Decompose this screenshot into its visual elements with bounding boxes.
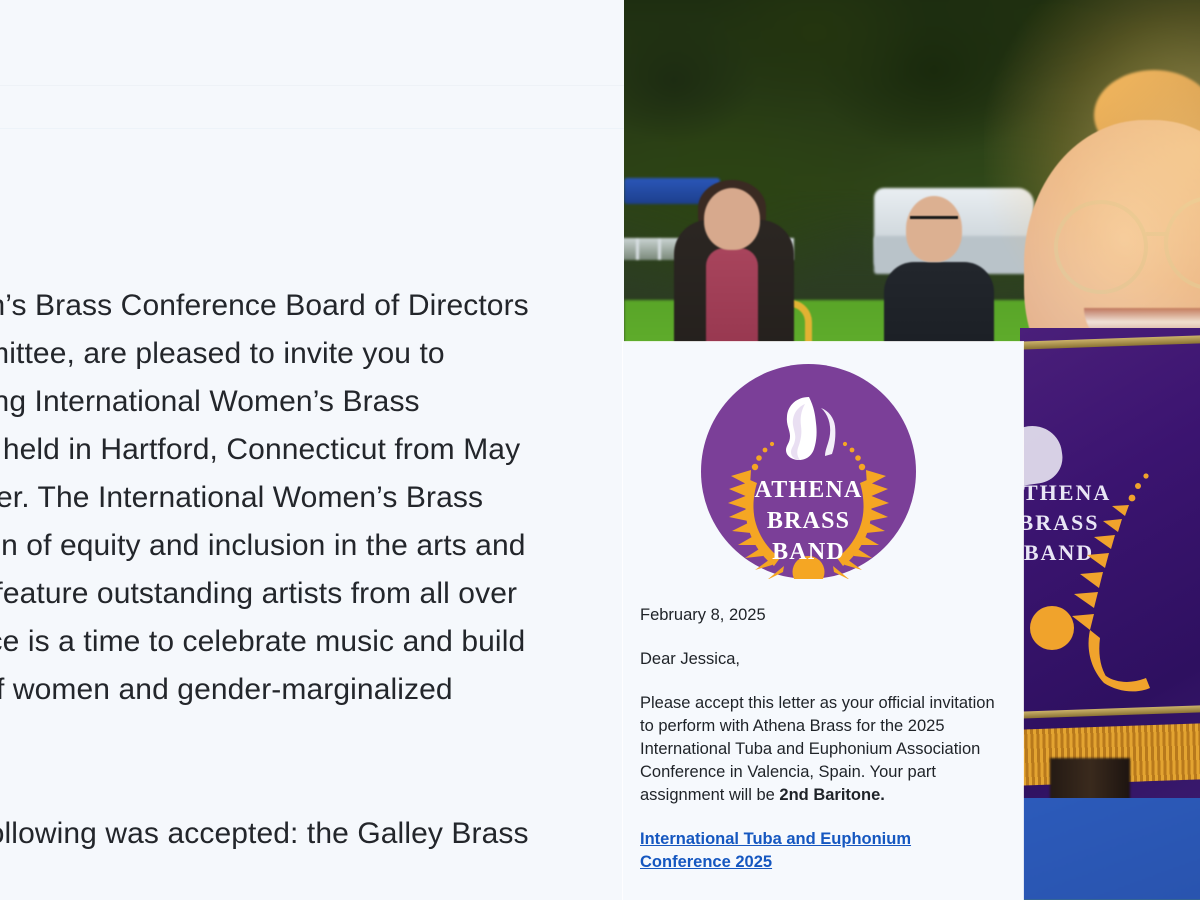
banner-top-trim bbox=[1020, 334, 1200, 350]
body-line: tion committee, are pleased to invite yo… bbox=[0, 330, 624, 378]
logo-line-1: ATHENA bbox=[754, 477, 862, 503]
body-line: ch will be held in Hartford, Connecticut… bbox=[0, 426, 624, 474]
photo-person-left-face bbox=[704, 188, 760, 250]
letter-part-assignment: 2nd Baritone. bbox=[779, 786, 884, 804]
body-line: s. bbox=[0, 714, 624, 762]
conference-link[interactable]: International Tuba and Euphonium Confere… bbox=[640, 828, 1000, 874]
athena-helmet-icon bbox=[786, 397, 835, 460]
banner-pole bbox=[1050, 758, 1130, 798]
body-line: a presenter. The International Women’s B… bbox=[0, 474, 624, 522]
screenshot-root: ayne al Women’s Brass Conference Board o… bbox=[0, 0, 1200, 900]
body-line: conference is a time to celebrate music … bbox=[0, 618, 624, 666]
letter-link-wrapper: International Tuba and Euphonium Confere… bbox=[640, 828, 1000, 874]
photo-person-front-glasses-bridge bbox=[1146, 232, 1168, 236]
banner-center-dot bbox=[1030, 606, 1074, 650]
invitation-letter-card[interactable]: ATHENA BRASS BAND February 8, 2025 Dear … bbox=[623, 342, 1023, 900]
laurel-wreath-icon bbox=[1060, 448, 1200, 708]
letter-date: February 8, 2025 bbox=[640, 604, 1000, 627]
body-line: celebration of equity and inclusion in t… bbox=[0, 522, 624, 570]
logo-line-2: BRASS bbox=[767, 508, 850, 534]
photo-person-middle-face bbox=[906, 196, 962, 262]
body-line: e upcoming International Women’s Brass bbox=[0, 378, 624, 426]
letter-paragraph: Please accept this letter as your offici… bbox=[640, 692, 1000, 807]
letter-text-body: February 8, 2025 Dear Jessica, Please ac… bbox=[640, 604, 1000, 895]
email-body-pane[interactable]: ayne al Women’s Brass Conference Board o… bbox=[0, 0, 624, 900]
logo-artwork: ATHENA BRASS BAND bbox=[701, 364, 916, 579]
body-line: n of the following was accepted: the Gal… bbox=[0, 810, 624, 858]
photo-person-middle-glasses bbox=[910, 216, 958, 228]
body-line: ence will feature outstanding artists fr… bbox=[0, 570, 624, 618]
athena-brass-band-banner: ATHENA BRASS BAND bbox=[1020, 328, 1200, 798]
photo-person-front-glasses-left-lens bbox=[1054, 200, 1148, 294]
letter-salutation: Dear Jessica, bbox=[640, 648, 1000, 671]
pane-divider-second bbox=[0, 128, 624, 129]
body-line: al Women’s Brass Conference Board of Dir… bbox=[0, 282, 624, 330]
logo-line-3: BAND bbox=[772, 539, 845, 565]
athena-brass-band-logo: ATHENA BRASS BAND bbox=[701, 364, 916, 579]
pane-divider-top bbox=[0, 85, 624, 86]
body-line: support of women and gender-marginalized bbox=[0, 666, 624, 714]
email-body-text: ayne al Women’s Brass Conference Board o… bbox=[0, 186, 624, 858]
recipient-name-fragment: ayne bbox=[0, 186, 624, 234]
